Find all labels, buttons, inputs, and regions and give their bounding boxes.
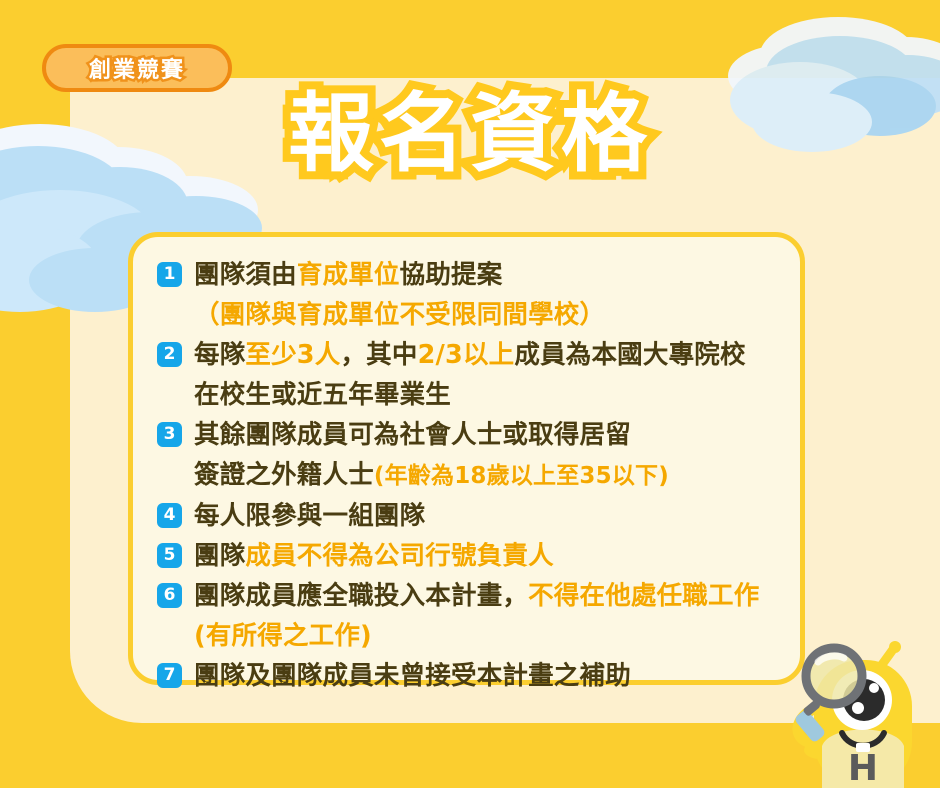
eligibility-list: 1團隊須由育成單位協助提案（團隊與育成單位不受限同間學校）2每隊至少3人，其中2… xyxy=(133,249,800,696)
rule-text-line: 團隊及團隊成員未曾接受本計畫之補助 xyxy=(194,656,631,696)
rule-number-badge: 2 xyxy=(157,342,182,367)
mascot-belly-letter: H xyxy=(848,748,878,788)
eligibility-rule-item: 1團隊須由育成單位協助提案（團隊與育成單位不受限同間學校） xyxy=(157,255,790,335)
eligibility-rule-item: 3其餘團隊成員可為社會人士或取得居留簽證之外籍人士(年齡為18歲以上至35以下) xyxy=(157,415,790,496)
rule-text-segment: 在校生或近五年畢業生 xyxy=(194,380,451,410)
rule-text-line: 團隊須由育成單位協助提案 xyxy=(194,255,605,295)
rule-text-line: 團隊成員不得為公司行號負責人 xyxy=(194,536,554,576)
rule-text-segment: (年齡為18歲以上至35以下) xyxy=(374,463,669,489)
rule-number-badge: 4 xyxy=(157,503,182,528)
rule-text-line: (有所得之工作) xyxy=(194,616,759,656)
eligibility-rule-item: 4每人限參與一組團隊 xyxy=(157,496,790,536)
rule-text-line: （團隊與育成單位不受限同間學校） xyxy=(194,295,605,335)
rule-text-line: 每人限參與一組團隊 xyxy=(194,496,425,536)
rule-text-segment: （團隊與育成單位不受限同間學校） xyxy=(194,300,605,330)
rule-text-segment: 協助提案 xyxy=(400,260,503,290)
eligibility-rule-item: 2每隊至少3人，其中2/3以上成員為本國大專院校在校生或近五年畢業生 xyxy=(157,335,790,415)
rule-text-line: 其餘團隊成員可為社會人士或取得居留 xyxy=(194,415,669,455)
eligibility-rule-item: 6團隊成員應全職投入本計畫，不得在他處任職工作(有所得之工作) xyxy=(157,576,790,656)
rule-number-badge: 1 xyxy=(157,262,182,287)
eligibility-rule-item: 7團隊及團隊成員未曾接受本計畫之補助 xyxy=(157,656,790,696)
rule-text: 團隊成員應全職投入本計畫，不得在他處任職工作(有所得之工作) xyxy=(194,576,759,656)
rule-text-segment: 至少3人 xyxy=(245,340,340,370)
mascot-tooth xyxy=(856,743,870,752)
rule-text-segment: 成員不得為公司行號負責人 xyxy=(245,541,553,571)
rule-number-badge: 5 xyxy=(157,543,182,568)
mascot-character: H xyxy=(778,628,940,788)
rule-text-segment: 2/3以上 xyxy=(418,340,515,370)
rule-text: 團隊及團隊成員未曾接受本計畫之補助 xyxy=(194,656,631,696)
rule-text-segment: 簽證之外籍人士 xyxy=(194,460,374,490)
mascot-antenna xyxy=(881,641,901,666)
rule-text-segment: 團隊 xyxy=(194,541,245,571)
rule-text: 團隊須由育成單位協助提案（團隊與育成單位不受限同間學校） xyxy=(194,255,605,335)
page-title: 報名資格 xyxy=(288,86,652,182)
rule-text-line: 團隊成員應全職投入本計畫，不得在他處任職工作 xyxy=(194,576,759,616)
rule-text-segment: 其餘團隊成員可為社會人士或取得居留 xyxy=(194,420,631,450)
category-pill-label: 創業競賽 xyxy=(89,52,185,84)
rule-text-segment: (有所得之工作) xyxy=(194,621,372,651)
rule-text-line: 在校生或近五年畢業生 xyxy=(194,375,746,415)
rule-text-segment: 成員為本國大專院校 xyxy=(514,340,745,370)
category-pill-badge: 創業競賽 xyxy=(42,44,232,92)
rule-text: 每隊至少3人，其中2/3以上成員為本國大專院校在校生或近五年畢業生 xyxy=(194,335,746,415)
rule-text-segment: 每隊 xyxy=(194,340,245,370)
rule-text: 團隊成員不得為公司行號負責人 xyxy=(194,536,554,576)
title-container: 報名資格 xyxy=(0,86,940,182)
rule-text-segment: 團隊及團隊成員未曾接受本計畫之補助 xyxy=(194,661,631,691)
rule-text-segment: 不得在他處任職工作 xyxy=(528,581,759,611)
rule-number-badge: 7 xyxy=(157,663,182,688)
rule-text-segment: 團隊成員應全職投入本計畫， xyxy=(194,581,528,611)
eligibility-card: 1團隊須由育成單位協助提案（團隊與育成單位不受限同間學校）2每隊至少3人，其中2… xyxy=(128,232,805,685)
rule-text-segment: 團隊須由 xyxy=(194,260,297,290)
rule-number-badge: 6 xyxy=(157,583,182,608)
rule-text-segment: 育成單位 xyxy=(297,260,400,290)
rule-text-line: 每隊至少3人，其中2/3以上成員為本國大專院校 xyxy=(194,335,746,375)
rule-number-badge: 3 xyxy=(157,422,182,447)
rule-text-line: 簽證之外籍人士(年齡為18歲以上至35以下) xyxy=(194,455,669,496)
eligibility-rule-item: 5團隊成員不得為公司行號負責人 xyxy=(157,536,790,576)
poster-canvas: 創業競賽 報名資格 1團隊須由育成單位協助提案（團隊與育成單位不受限同間學校）2… xyxy=(0,0,940,788)
rule-text: 其餘團隊成員可為社會人士或取得居留簽證之外籍人士(年齡為18歲以上至35以下) xyxy=(194,415,669,496)
rule-text: 每人限參與一組團隊 xyxy=(194,496,425,536)
rule-text-segment: 每人限參與一組團隊 xyxy=(194,501,425,531)
rule-text-segment: ，其中 xyxy=(340,340,417,370)
